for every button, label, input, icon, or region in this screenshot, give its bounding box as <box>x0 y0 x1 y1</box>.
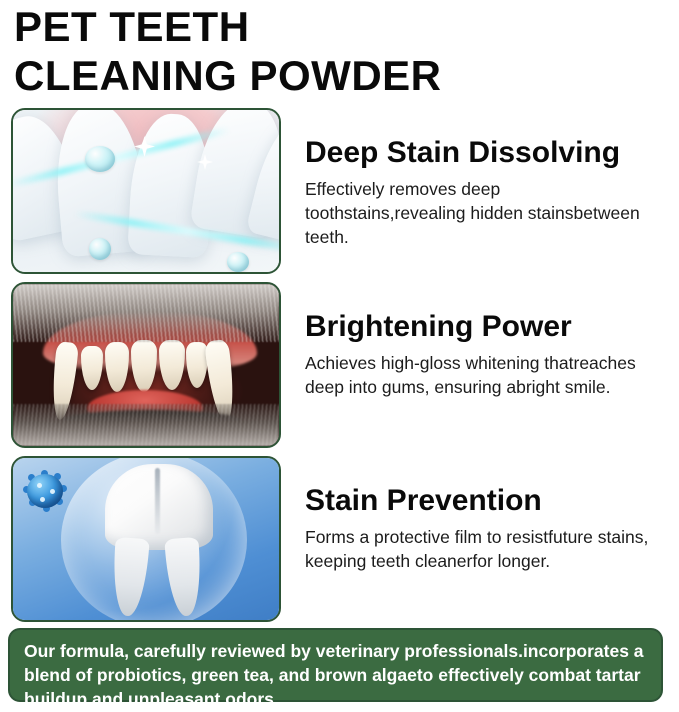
feature-body: Achieves high-gloss whitening thatreache… <box>305 351 655 399</box>
title-line-1: PET TEETH <box>14 2 679 51</box>
feature-row-stain-prevention: Stain Prevention Forms a protective film… <box>0 456 679 624</box>
page-title: PET TEETH CLEANING POWDER <box>0 0 679 100</box>
formula-footer-banner: Our formula, carefully reviewed by veter… <box>8 628 663 702</box>
water-droplet-icon <box>85 146 115 172</box>
feature-image-deep-stain-dissolving <box>11 108 281 274</box>
feature-heading: Deep Stain Dissolving <box>305 136 679 170</box>
germ-body <box>27 474 63 508</box>
water-droplet-icon <box>89 238 111 260</box>
molar-root <box>110 537 149 617</box>
title-line-2: CLEANING POWDER <box>14 51 679 100</box>
feature-image-stain-prevention <box>11 456 281 622</box>
feature-list: Deep Stain Dissolving Effectively remove… <box>0 108 679 624</box>
germ-bacteria-icon <box>23 470 67 512</box>
feature-row-brightening-power: Brightening Power Achieves high-gloss wh… <box>0 282 679 450</box>
feature-row-deep-stain-dissolving: Deep Stain Dissolving Effectively remove… <box>0 108 679 276</box>
footer-text: Our formula, carefully reviewed by veter… <box>24 639 647 711</box>
feature-body: Forms a protective film to resistfuture … <box>305 525 655 573</box>
feature-heading: Stain Prevention <box>305 484 679 518</box>
water-droplet-icon <box>227 252 249 272</box>
feature-text-block: Brightening Power Achieves high-gloss wh… <box>281 282 679 399</box>
feature-heading: Brightening Power <box>305 310 679 344</box>
feature-image-brightening-power <box>11 282 281 448</box>
molar-root <box>164 537 203 617</box>
molar-tooth-icon <box>105 464 213 616</box>
dog-fur-top <box>13 284 279 342</box>
dog-fur-bottom <box>13 404 279 446</box>
feature-text-block: Stain Prevention Forms a protective film… <box>281 456 679 573</box>
feature-body: Effectively removes deep toothstains,rev… <box>305 177 655 249</box>
molar-groove <box>155 468 160 534</box>
feature-text-block: Deep Stain Dissolving Effectively remove… <box>281 108 679 249</box>
